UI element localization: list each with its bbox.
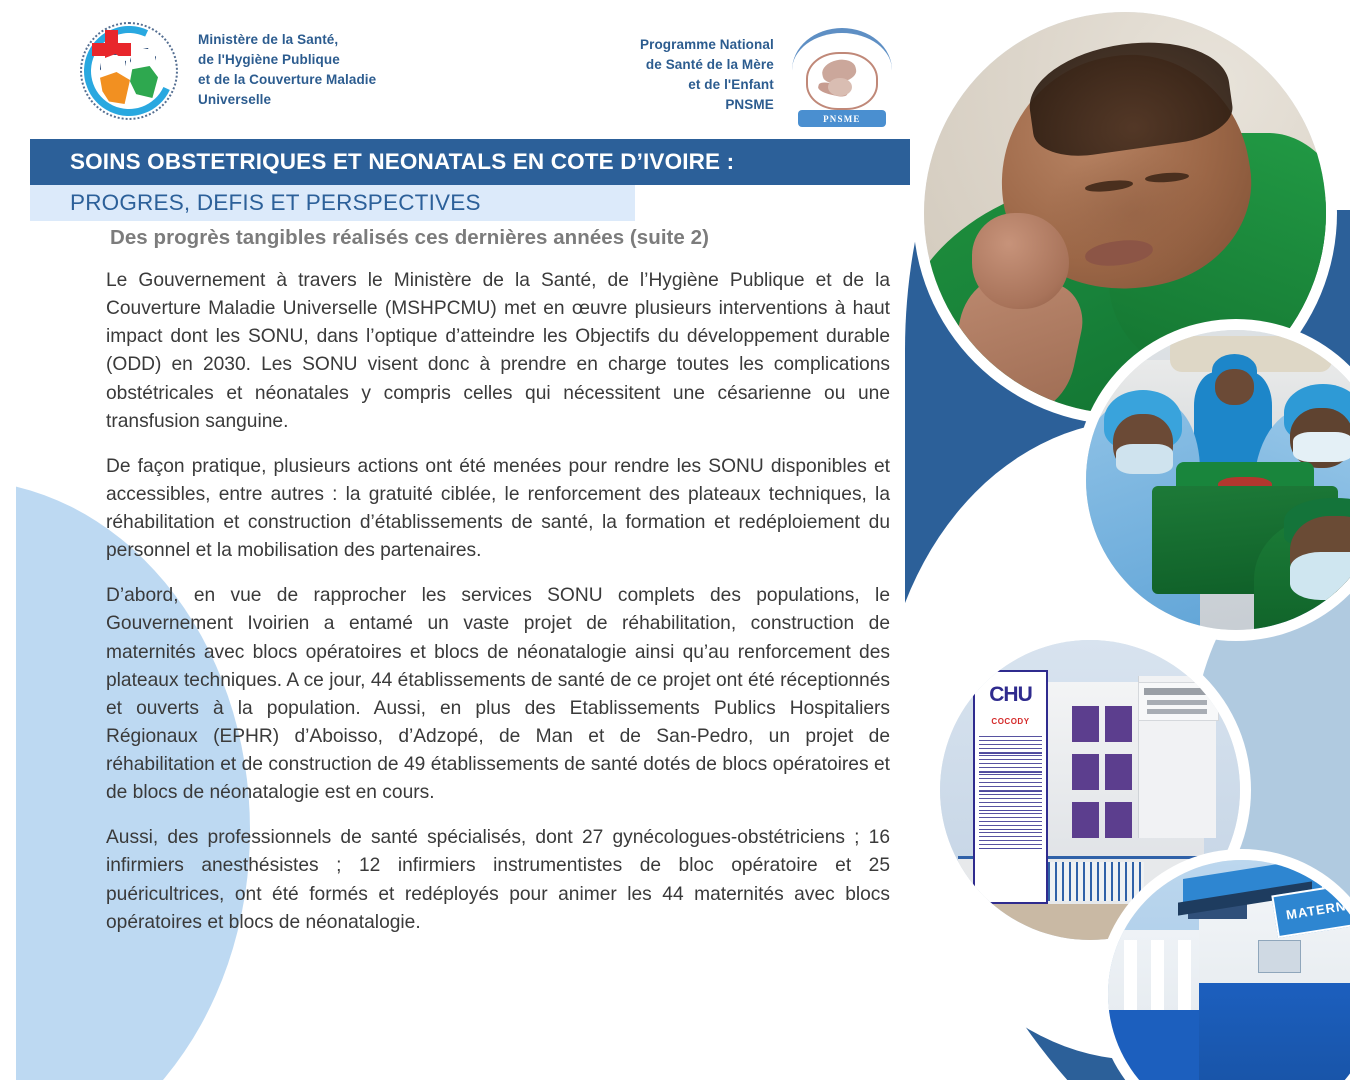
maternity-front-wall-base: [1199, 983, 1350, 1080]
decorative-left-white-strip: [0, 0, 16, 1080]
banner-subtitle: PROGRES, DEFIS ET PERSPECTIVES: [30, 190, 481, 216]
banner-title: SOINS OBSTETRIQUES ET NEONATALS EN COTE …: [30, 149, 734, 175]
page-header: Ministère de la Santé, de l'Hygiène Publ…: [0, 0, 940, 130]
maternity-column-base: [1151, 1010, 1164, 1053]
building-window: [1072, 802, 1099, 838]
ministry-logo-text: Ministère de la Santé, de l'Hygiène Publ…: [198, 30, 376, 110]
pnsme-plate-label: PNSME: [798, 110, 886, 127]
background-staff-face: [1215, 369, 1254, 405]
building-top-sign-line: [1144, 688, 1210, 695]
maternity-column-base: [1178, 1010, 1191, 1053]
blue-arc-icon: [71, 13, 186, 128]
building-window: [1105, 802, 1132, 838]
building-window: [1072, 754, 1099, 790]
paragraph: Aussi, des professionnels de santé spéci…: [106, 824, 890, 937]
pnsme-logo-text: Programme National de Santé de la Mère e…: [640, 35, 774, 115]
chu-sign-cocody-label: COCODY: [984, 713, 1038, 729]
building-window: [1072, 706, 1099, 742]
article-content: Des progrès tangibles réalisés ces derni…: [106, 226, 890, 937]
pnsme-emblem-icon: PNSME: [788, 26, 896, 124]
paragraph: De façon pratique, plusieurs actions ont…: [106, 453, 890, 566]
baby-fist: [972, 213, 1068, 309]
maternity-column-base: [1124, 1010, 1137, 1053]
building-window: [1105, 706, 1132, 742]
red-cross-icon: [92, 43, 131, 56]
building-top-sign-line: [1147, 700, 1207, 705]
surgeon-left-mask: [1116, 444, 1173, 474]
foreground-staff-mask: [1290, 552, 1350, 600]
maternity-wall-plaque: [1258, 940, 1301, 972]
building-window: [1105, 754, 1132, 790]
chu-sign-row: [979, 736, 1041, 753]
banner-subtitle-bar: PROGRES, DEFIS ET PERSPECTIVES: [30, 185, 635, 221]
surgeon-right-mask: [1293, 432, 1350, 462]
chu-sign-row: [979, 832, 1041, 849]
chu-sign-row: [979, 755, 1041, 772]
pnsme-logo: Programme National de Santé de la Mère e…: [640, 26, 896, 124]
chu-sign-rows: [979, 736, 1041, 892]
paragraph: Le Gouvernement à travers le Ministère d…: [106, 267, 890, 436]
chu-sign-row: [979, 794, 1041, 811]
section-heading: Des progrès tangibles réalisés ces derni…: [106, 226, 890, 250]
chu-sign-row: [979, 813, 1041, 830]
baby-figure-icon: [828, 78, 852, 96]
chu-sign-logo: CHU: [981, 679, 1041, 711]
chu-sign-row: [979, 774, 1041, 791]
ministry-of-health-logo: Ministère de la Santé, de l'Hygiène Publ…: [78, 22, 376, 118]
banner-title-bar: SOINS OBSTETRIQUES ET NEONATALS EN COTE …: [30, 139, 910, 185]
paragraph: D’abord, en vue de rapprocher les servic…: [106, 582, 890, 807]
brochure-page: CHU COCODY: [0, 0, 1350, 1080]
operating-room-surgery-photo: [1086, 330, 1350, 630]
building-top-sign-line: [1147, 709, 1207, 714]
ministry-emblem-icon: [78, 22, 184, 118]
chu-directory-sign: CHU COCODY: [973, 670, 1048, 904]
maternity-building-photo: MATERNITE: [1108, 860, 1350, 1080]
